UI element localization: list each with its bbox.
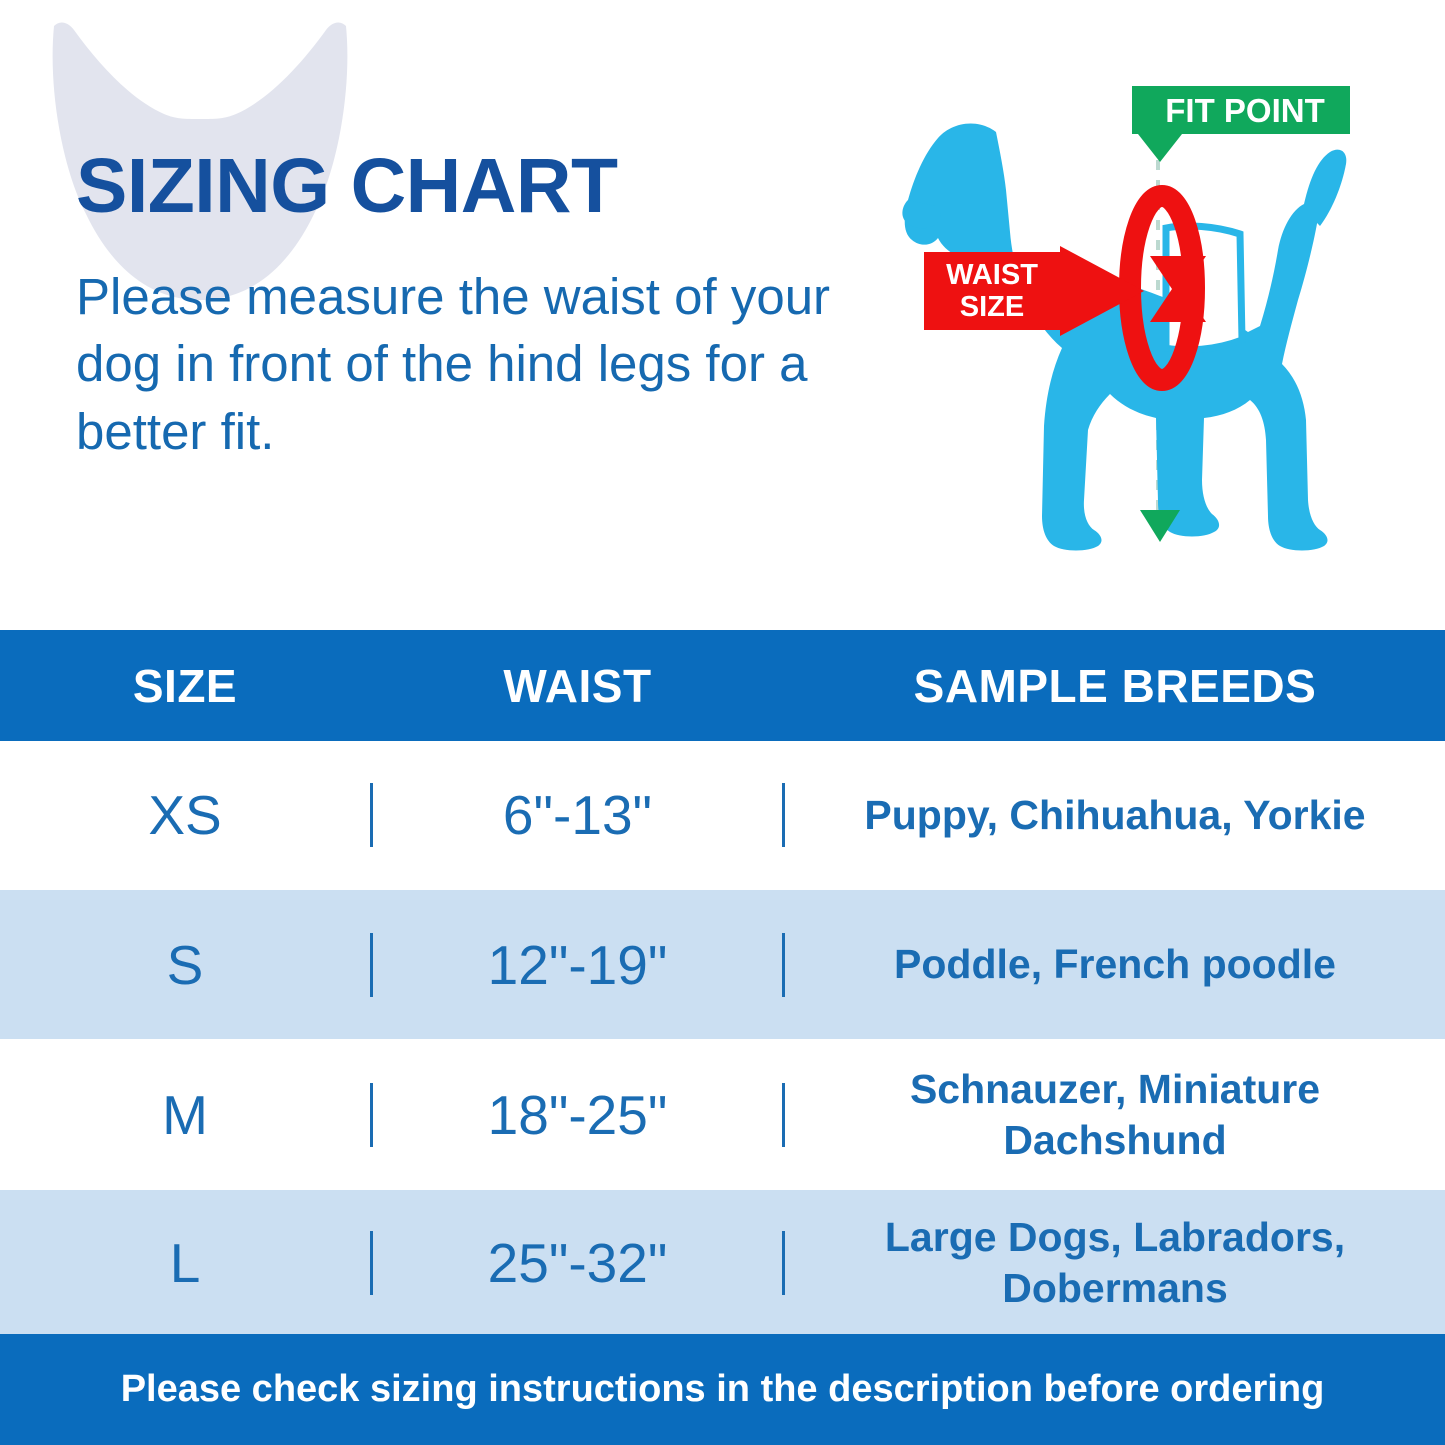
waist-size-label-line1: WAIST [946,259,1038,291]
column-header-breeds: SAMPLE BREEDS [785,659,1445,713]
cell-size: M [0,1083,370,1147]
column-header-size: SIZE [0,659,370,713]
cell-waist: 12"-19" [370,933,785,997]
intro-text: Please measure the waist of your dog in … [76,225,896,465]
waist-size-label-line2: SIZE [960,291,1024,323]
cell-breeds: Poddle, French poodle [785,939,1445,989]
cell-breeds: Puppy, Chihuahua, Yorkie [785,790,1445,840]
cell-waist: 6"-13" [370,783,785,847]
page-title: SIZING CHART [76,148,906,225]
cell-breeds: Schnauzer, Miniature Dachshund [785,1064,1445,1164]
cell-waist: 18"-25" [370,1083,785,1147]
table-row: XS 6"-13" Puppy, Chihuahua, Yorkie [0,741,1445,889]
header-section: SIZING CHART Please measure the waist of… [0,0,1445,630]
table-row: S 12"-19" Poddle, French poodle [0,890,1445,1039]
title-block: SIZING CHART Please measure the waist of… [76,148,906,465]
cell-breeds: Large Dogs, Labradors, Dobermans [785,1212,1445,1312]
cell-size: XS [0,783,370,847]
cell-waist: 25"-32" [370,1231,785,1295]
cell-size: S [0,933,370,997]
table-header-row: SIZE WAIST SAMPLE BREEDS [0,630,1445,741]
column-header-waist: WAIST [370,659,785,713]
dog-measurement-diagram: WAIST SIZE FIT POINT [900,60,1390,570]
table-footer-bar: Please check sizing instructions in the … [0,1334,1445,1445]
footer-note: Please check sizing instructions in the … [121,1368,1325,1411]
fit-point-label: FIT POINT [1165,92,1325,129]
table-row: M 18"-25" Schnauzer, Miniature Dachshund [0,1040,1445,1189]
size-table: SIZE WAIST SAMPLE BREEDS XS 6"-13" Puppy… [0,630,1445,1334]
table-row: L 25"-32" Large Dogs, Labradors, Doberma… [0,1190,1445,1335]
cell-size: L [0,1231,370,1295]
